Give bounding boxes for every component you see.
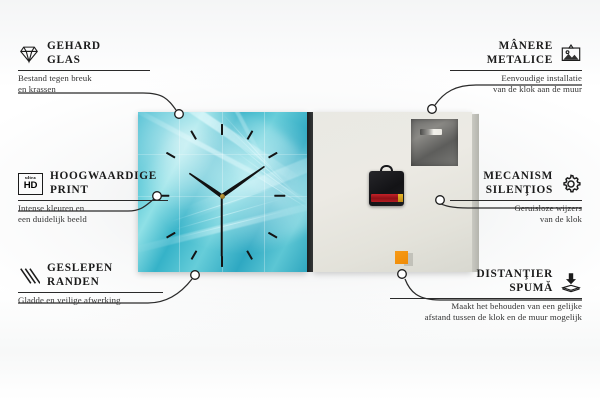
callout-rule [18,292,163,293]
callout-description: Gladde en veilige afwerking [18,295,163,306]
callout-mecanism-silentios: MECANISM SILENŢIOS Geruisloze wijzers va… [450,170,582,224]
clock-tick [274,195,285,197]
battery [371,194,401,202]
callout-rule [450,70,582,71]
foam-spacer-icon [560,271,582,293]
callout-rule [390,298,582,299]
callout-description: Maakt het behouden van een gelijke afsta… [390,301,582,322]
callout-rule [450,200,582,201]
ultra-hd-icon: ultra HD [18,173,43,195]
infographic-canvas: GEHARD GLAS Bestand tegen breuk en krass… [0,0,600,400]
callout-title: MÂNERE METALICE [487,40,553,67]
hanger-plate [411,119,458,166]
clock-tick [221,124,223,135]
battery-terminal [398,194,403,202]
callout-geslepen-randen: GESLEPEN RANDEN Gladde en veilige afwerk… [18,262,163,306]
callout-title: DISTANŢIER SPUMĂ [477,268,553,295]
callout-gehard-glas: GEHARD GLAS Bestand tegen breuk en krass… [18,40,150,94]
diamond-icon [18,43,40,65]
clock-second-hand [221,197,223,257]
clock-tick [221,256,223,267]
picture-frame-icon [560,43,582,65]
callout-manere-metalice: MÂNERE METALICE Eenvoudige installatie v… [450,40,582,94]
callout-description: Intense kleuren en een duidelijk beeld [18,203,168,224]
callout-title: GESLEPEN RANDEN [47,262,113,289]
callout-distantier-spuma: DISTANŢIER SPUMĂ Maakt het behouden van … [390,268,582,322]
gear-icon [560,173,582,195]
callout-description: Bestand tegen breuk en krassen [18,73,150,94]
callout-description: Geruisloze wijzers van de klok [450,203,582,224]
foam-spacer [395,251,408,264]
beveled-edges-icon [18,265,40,287]
clock-center-cap [220,194,225,199]
callout-hoogwaardige-print: ultra HD HOOGWAARDIGE PRINT Intense kleu… [18,170,168,224]
hanger-slot [420,129,442,135]
callout-rule [18,200,168,201]
callout-description: Eenvoudige installatie van de klok aan d… [450,73,582,94]
callout-title: MECANISM SILENŢIOS [483,170,553,197]
callout-rule [18,70,150,71]
callout-title: GEHARD GLAS [47,40,101,67]
callout-title: HOOGWAARDIGE PRINT [50,170,157,197]
